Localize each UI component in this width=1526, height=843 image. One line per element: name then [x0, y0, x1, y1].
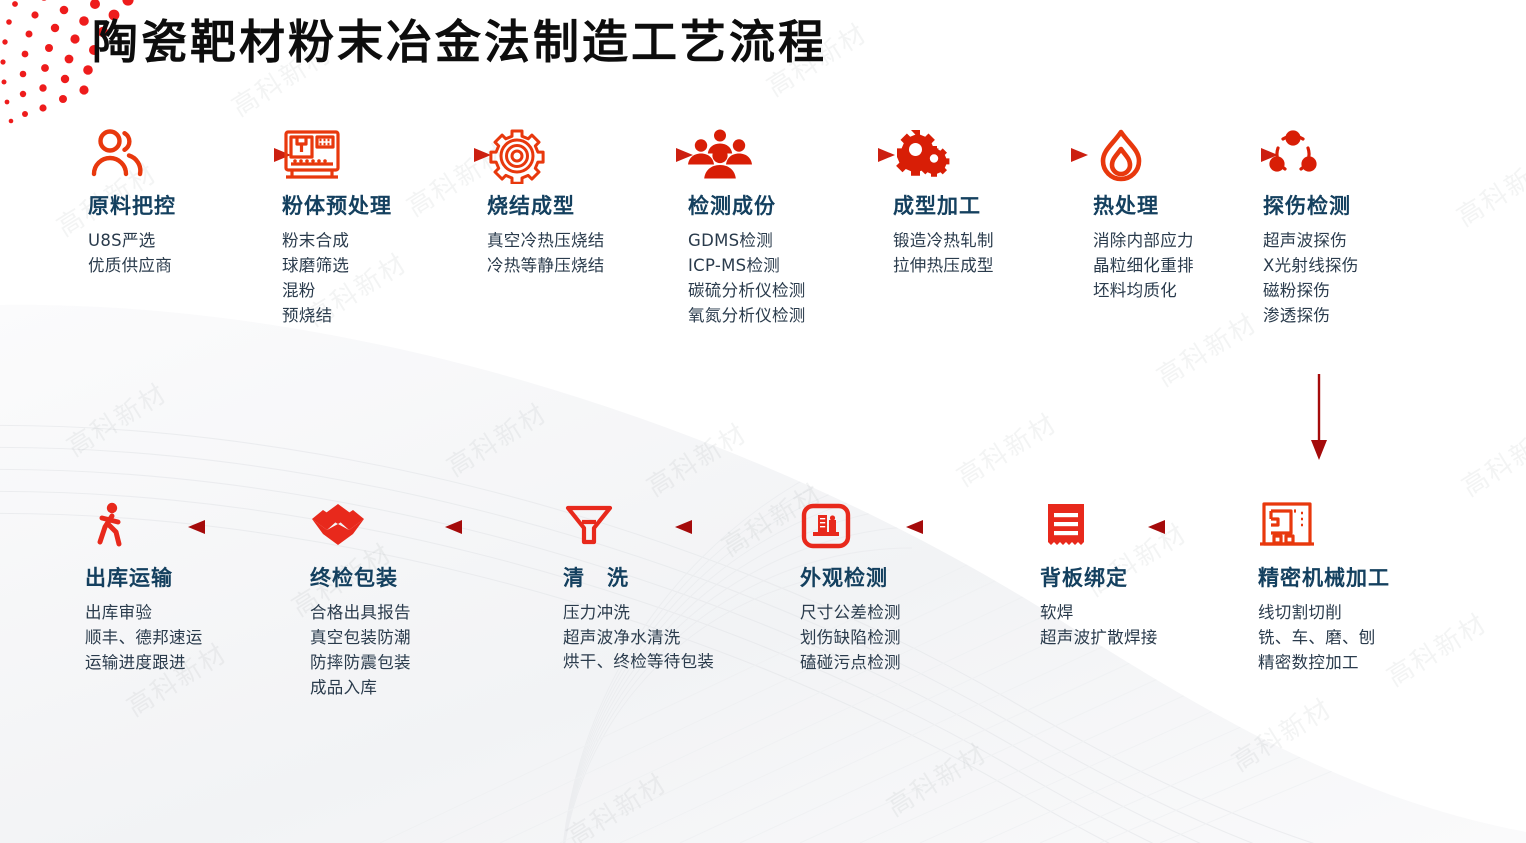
step-item-list: U8S严选 优质供应商: [88, 228, 176, 278]
list-item: 运输进度跟进: [85, 650, 203, 675]
step-title: 成型加工: [893, 190, 994, 220]
step-title: 背板绑定: [1040, 562, 1158, 592]
list-item: 烘干、终检等待包装: [563, 650, 714, 673]
step-item-list: 线切割切削 铣、车、磨、刨 精密数控加工: [1258, 600, 1390, 675]
step-title: 终检包装: [310, 562, 411, 592]
step-item-list: 合格出具报告 真空包装防潮 防摔防震包装 成品入库: [310, 600, 411, 700]
step-outbound-shipping[interactable]: 出库运输 出库审验 顺丰、德邦速运 运输进度跟进: [85, 500, 203, 675]
two-people-icon: [88, 128, 176, 184]
step-composition-testing[interactable]: 检测成份 GDMS检测 ICP-MS检测 碳硫分析仪检测 氧氮分析仪检测: [688, 128, 806, 328]
page-title: 陶瓷靶材粉末冶金法制造工艺流程: [92, 6, 827, 72]
step-item-list: 出库审验 顺丰、德邦速运 运输进度跟进: [85, 600, 203, 675]
watermark: 高科新材: [949, 403, 1064, 494]
step-flaw-detection[interactable]: 探伤检测 超声波探伤 X光射线探伤 磁粉探伤 渗透探伤: [1263, 128, 1359, 328]
list-item: 碳硫分析仪检测: [688, 278, 806, 303]
watermark: 高科新材: [1379, 603, 1494, 694]
watermark: 高科新材: [1149, 303, 1264, 394]
list-item: 磁粉探伤: [1263, 278, 1359, 303]
list-item: 超声波探伤: [1263, 228, 1359, 253]
watermark: 高科新材: [439, 393, 554, 484]
list-item: 锻造冷热轧制: [893, 228, 994, 253]
list-item: 冷热等静压烧结: [487, 253, 605, 278]
list-item: 混粉: [282, 278, 392, 303]
step-title: 热处理: [1093, 190, 1194, 220]
list-item: 尺寸公差检测: [800, 600, 901, 625]
watermark: 高科新材: [879, 733, 994, 824]
walking-person-icon: [85, 500, 203, 556]
step-precision-machining[interactable]: 精密机械加工 线切割切削 铣、车、磨、刨 精密数控加工: [1258, 500, 1390, 675]
step-title: 出库运输: [85, 562, 203, 592]
powder-machine-icon: [282, 128, 392, 184]
watermark: 高科新材: [59, 373, 174, 464]
flowchart-canvas: 高科新材 高科新材 高科新材 高科新材 高科新材 高科新材 高科新材 高科新材 …: [0, 0, 1526, 843]
step-title: 检测成份: [688, 190, 806, 220]
step-title: 烧结成型: [487, 190, 605, 220]
list-item: 粉末合成: [282, 228, 392, 253]
step-item-list: 锻造冷热轧制 拉伸热压成型: [893, 228, 994, 278]
step-title: 原料把控: [88, 190, 176, 220]
step-final-inspection-packaging[interactable]: 终检包装 合格出具报告 真空包装防潮 防摔防震包装 成品入库: [310, 500, 411, 700]
watermark: 高科新材: [639, 413, 754, 504]
step-item-list: 尺寸公差检测 划伤缺陷检测 磕碰污点检测: [800, 600, 901, 675]
list-item: 防摔防震包装: [310, 650, 411, 675]
list-item: 拉伸热压成型: [893, 253, 994, 278]
watermark: 高科新材: [1449, 143, 1526, 234]
arrow-cleaning-to-packaging: [442, 518, 547, 538]
people-group-icon: [688, 128, 806, 184]
watermark: 高科新材: [1454, 413, 1526, 504]
arrow-step3-to-step4: [600, 146, 695, 166]
watermark: 高科新材: [559, 763, 674, 843]
step-heat-treatment[interactable]: 热处理 消除内部应力 晶粒细化重排 坯料均质化: [1093, 128, 1194, 303]
backplate-icon: [1040, 500, 1158, 556]
list-item: 成品入库: [310, 675, 411, 700]
down-arrow-row1-to-row2: [1306, 372, 1332, 469]
list-item: 真空冷热压烧结: [487, 228, 605, 253]
step-title: 清 洗: [563, 562, 714, 592]
list-item: 晶粒细化重排: [1093, 253, 1194, 278]
arrow-backplate-to-appearance: [903, 518, 1013, 538]
step-item-list: 粉末合成 球磨筛选 混粉 预烧结: [282, 228, 392, 328]
list-item: GDMS检测: [688, 228, 806, 253]
list-item: X光射线探伤: [1263, 253, 1359, 278]
step-title: 粉体预处理: [282, 190, 392, 220]
step-appearance-inspection[interactable]: 外观检测 尺寸公差检测 划伤缺陷检测 磕碰污点检测: [800, 500, 901, 675]
list-item: 磕碰污点检测: [800, 650, 901, 675]
funnel-icon: [563, 500, 714, 556]
three-dots-cycle-icon: [1263, 128, 1359, 184]
list-item: 消除内部应力: [1093, 228, 1194, 253]
step-forming-machining[interactable]: 成型加工 锻造冷热轧制 拉伸热压成型: [893, 128, 994, 278]
step-item-list: GDMS检测 ICP-MS检测 碳硫分析仪检测 氧氮分析仪检测: [688, 228, 806, 328]
watermark-layer: 高科新材 高科新材 高科新材 高科新材 高科新材 高科新材 高科新材 高科新材 …: [0, 0, 1526, 843]
list-item: 合格出具报告: [310, 600, 411, 625]
list-item: 线切割切削: [1258, 600, 1390, 625]
list-item: 渗透探伤: [1263, 303, 1359, 328]
step-item-list: 软焊 超声波扩散焊接: [1040, 600, 1158, 650]
open-box-icon: [310, 500, 411, 556]
arrow-precision-to-backplate: [1145, 518, 1245, 538]
step-item-list: 超声波探伤 X光射线探伤 磁粉探伤 渗透探伤: [1263, 228, 1359, 328]
list-item: ICP-MS检测: [688, 253, 806, 278]
step-sintering-forming[interactable]: 烧结成型 真空冷热压烧结 冷热等静压烧结: [487, 128, 605, 278]
list-item: U8S严选: [88, 228, 176, 253]
list-item: 出库审验: [85, 600, 203, 625]
two-gears-icon: [893, 128, 994, 184]
arrow-step4-to-step5: [802, 146, 897, 166]
list-item: 坯料均质化: [1093, 278, 1194, 303]
watermark: 高科新材: [1224, 688, 1339, 779]
step-title: 精密机械加工: [1258, 562, 1390, 592]
list-item: 铣、车、磨、刨: [1258, 625, 1390, 650]
list-item: 顺丰、德邦速运: [85, 625, 203, 650]
list-item: 氧氮分析仪检测: [688, 303, 806, 328]
list-item: 真空包装防潮: [310, 625, 411, 650]
cnc-machine-icon: [1258, 500, 1390, 556]
list-item: 超声波扩散焊接: [1040, 625, 1158, 650]
list-item: 超声波净水清洗: [563, 625, 714, 650]
arrow-step1-to-step2: [198, 146, 293, 166]
step-title: 外观检测: [800, 562, 901, 592]
list-item: 压力冲洗: [563, 600, 714, 625]
step-title: 探伤检测: [1263, 190, 1359, 220]
step-item-list: 压力冲洗 超声波净水清洗 烘干、终检等待包装: [563, 600, 714, 673]
step-cleaning[interactable]: 清 洗 压力冲洗 超声波净水清洗 烘干、终检等待包装: [563, 500, 714, 673]
inspection-square-icon: [800, 500, 901, 556]
list-item: 优质供应商: [88, 253, 176, 278]
list-item: 划伤缺陷检测: [800, 625, 901, 650]
arrow-step2-to-step3: [398, 146, 493, 166]
flame-icon: [1093, 128, 1194, 184]
arrow-step5-to-step6: [995, 146, 1090, 166]
step-raw-material-control[interactable]: 原料把控 U8S严选 优质供应商: [88, 128, 176, 278]
step-backplate-bonding[interactable]: 背板绑定 软焊 超声波扩散焊接: [1040, 500, 1158, 650]
list-item: 精密数控加工: [1258, 650, 1390, 675]
list-item: 预烧结: [282, 303, 392, 328]
list-item: 软焊: [1040, 600, 1158, 625]
gear-rings-icon: [487, 128, 605, 184]
step-item-list: 消除内部应力 晶粒细化重排 坯料均质化: [1093, 228, 1194, 303]
step-item-list: 真空冷热压烧结 冷热等静压烧结: [487, 228, 605, 278]
list-item: 球磨筛选: [282, 253, 392, 278]
step-powder-pretreatment[interactable]: 粉体预处理 粉末合成 球磨筛选 混粉 预烧结: [282, 128, 392, 328]
background-swoosh: [0, 0, 1526, 843]
